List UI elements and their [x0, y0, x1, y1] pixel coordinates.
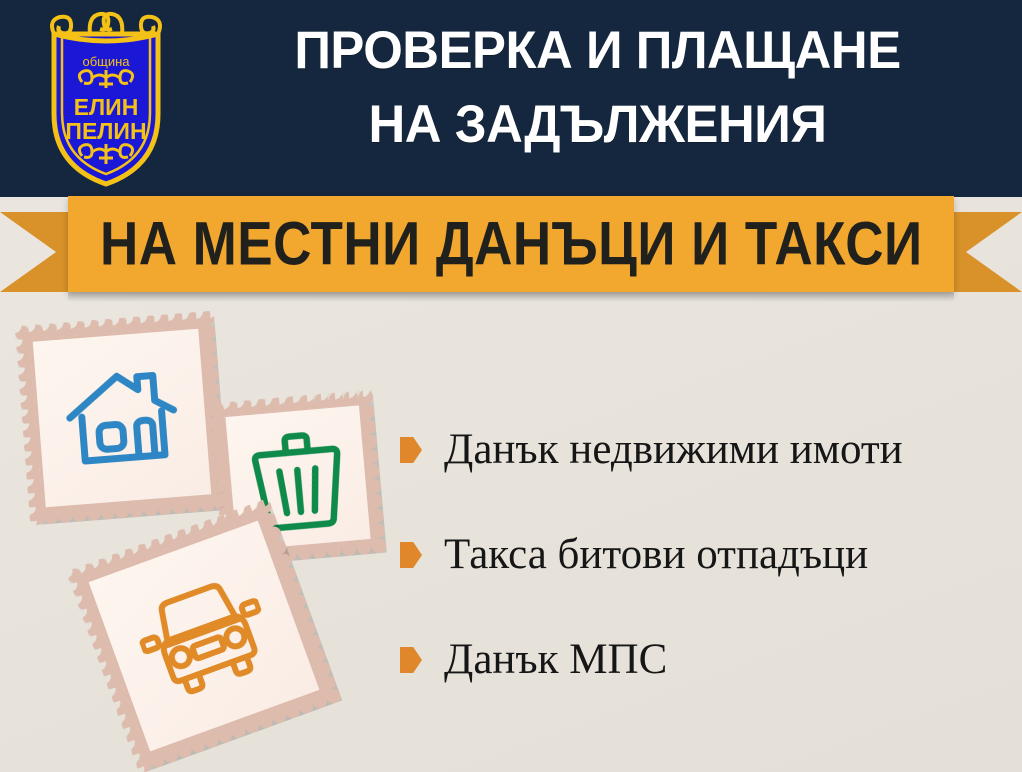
- subtitle-ribbon: НА МЕСТНИ ДАНЪЦИ И ТАКСИ: [0, 196, 1022, 308]
- stamp-card-property-tax: [14, 310, 229, 525]
- poster-canvas: община ЕЛИН ПЕЛИН: [0, 0, 1022, 772]
- stamp-paper: [33, 329, 212, 508]
- bullet-arrow-icon: [400, 647, 422, 673]
- header-banner: община ЕЛИН ПЕЛИН: [0, 0, 1022, 197]
- page-title: ПРОВЕРКА И ПЛАЩАНЕ НА ЗАДЪЛЖЕНИЯ: [206, 14, 988, 162]
- crest-label-obshtina: община: [82, 54, 130, 69]
- page-title-line-2: НА ЗАДЪЛЖЕНИЯ: [206, 88, 988, 162]
- crest-label-elin: ЕЛИН: [74, 94, 139, 120]
- services-list: Данък недвижими имоти Такса битови отпад…: [400, 424, 1010, 686]
- bullet-arrow-icon: [400, 542, 422, 568]
- page-title-line-1: ПРОВЕРКА И ПЛАЩАНЕ: [206, 14, 988, 88]
- list-item[interactable]: Такса битови отпадъци: [400, 529, 1010, 581]
- crest-label-pelin: ПЕЛИН: [65, 118, 146, 144]
- car-front-icon: [89, 521, 320, 752]
- ribbon-band: НА МЕСТНИ ДАНЪЦИ И ТАКСИ: [68, 196, 954, 292]
- coat-of-arms-icon: община ЕЛИН ПЕЛИН: [38, 8, 174, 188]
- stamp-paper: [89, 521, 320, 752]
- ribbon-shadow: [68, 292, 954, 302]
- list-item-label: Данък недвижими имоти: [444, 427, 903, 473]
- list-item[interactable]: Данък МПС: [400, 634, 1010, 686]
- list-item-label: Такса битови отпадъци: [444, 532, 868, 578]
- bullet-arrow-icon: [400, 437, 422, 463]
- list-item-label: Данък МПС: [444, 637, 667, 683]
- ribbon-label: НА МЕСТНИ ДАНЪЦИ И ТАКСИ: [100, 213, 923, 275]
- list-item[interactable]: Данък недвижими имоти: [400, 424, 1010, 476]
- house-icon: [33, 329, 212, 508]
